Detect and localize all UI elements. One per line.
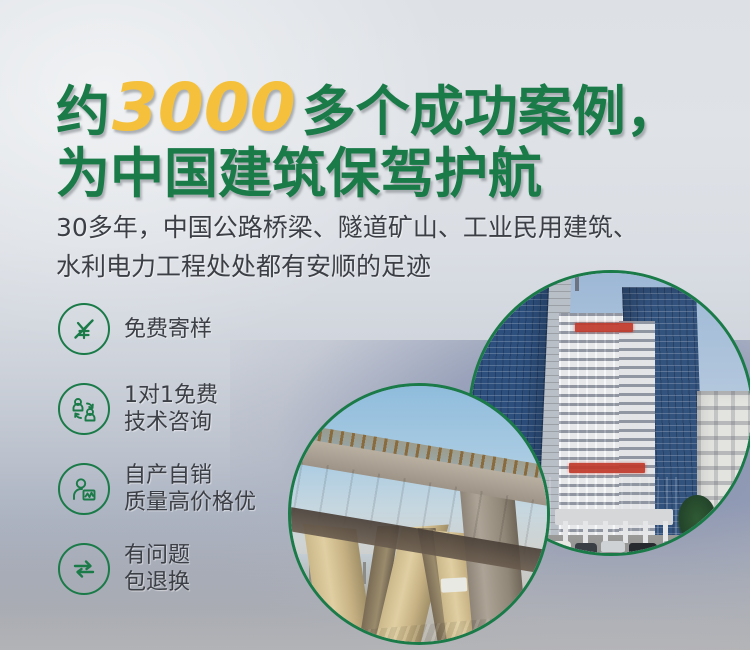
feature-label-line-2: 质量高价格优 xyxy=(124,489,256,516)
photo-tree xyxy=(677,495,717,547)
feature-item-self-produce: 自产自销 质量高价格优 xyxy=(58,458,318,520)
feature-item-return-exchange: 有问题 包退换 xyxy=(58,538,318,600)
photo-car xyxy=(629,543,657,553)
headline-line-1: 约3000多个成功案例， xyxy=(56,78,716,142)
photo-car xyxy=(545,541,571,552)
headline-line-2: 为中国建筑保驾护航 xyxy=(56,144,716,204)
feature-label: 1对1免费 技术咨询 xyxy=(124,382,218,436)
free-sample-icon xyxy=(58,303,110,355)
feature-item-consult: 1对1免费 技术咨询 xyxy=(58,378,318,440)
headline-prefix: 约 xyxy=(56,80,110,143)
one-on-one-consult-icon xyxy=(58,383,110,435)
photo-car xyxy=(663,541,685,552)
feature-label-line-1: 自产自销 xyxy=(124,463,212,488)
return-exchange-icon xyxy=(58,543,110,595)
headline-block: 约3000多个成功案例， 为中国建筑保驾护航 xyxy=(56,78,716,204)
photo-red-sign-upper xyxy=(575,323,633,332)
feature-label-line-1: 1对1免费 xyxy=(124,383,218,408)
photo-car xyxy=(575,543,597,553)
feature-label: 自产自销 质量高价格优 xyxy=(124,462,256,516)
feature-label-line-1: 有问题 xyxy=(124,543,190,568)
feature-label: 免费寄样 xyxy=(124,316,212,343)
subtitle-block: 30多年，中国公路桥梁、隧道矿山、工业民用建筑、 水利电力工程处处都有安顺的足迹 xyxy=(56,208,726,286)
photo-column xyxy=(603,521,608,543)
feature-item-free-sample: 免费寄样 xyxy=(58,298,318,360)
bridge-photo-content xyxy=(291,386,547,642)
photo-car xyxy=(601,541,625,552)
photo-red-sign-lower xyxy=(569,463,645,473)
self-produce-sell-icon xyxy=(58,463,110,515)
subtitle-line-2: 水利电力工程处处都有安顺的足迹 xyxy=(56,247,726,286)
headline-number: 3000 xyxy=(110,69,302,146)
promo-banner: 约3000多个成功案例， 为中国建筑保驾护航 30多年，中国公路桥梁、隧道矿山、… xyxy=(0,0,750,650)
photo-column xyxy=(583,521,588,543)
photo-vehicle xyxy=(441,577,468,592)
photo-column xyxy=(623,521,628,543)
feature-label-line-2: 包退换 xyxy=(124,569,190,596)
photo-podium xyxy=(549,477,681,537)
photo-canopy xyxy=(555,509,673,525)
feature-label: 有问题 包退换 xyxy=(124,542,190,596)
feature-label-line-2: 技术咨询 xyxy=(124,409,218,436)
bridge-photo xyxy=(288,383,550,645)
photo-column xyxy=(643,521,648,543)
headline-suffix: 多个成功案例， xyxy=(302,80,680,143)
feature-label-line-1: 免费寄样 xyxy=(124,317,212,342)
photo-column xyxy=(663,521,668,543)
photo-column xyxy=(563,521,568,543)
feature-list: 免费寄样 1对1免费 技术咨询 xyxy=(58,298,318,600)
subtitle-line-1: 30多年，中国公路桥梁、隧道矿山、工业民用建筑、 xyxy=(56,208,726,247)
